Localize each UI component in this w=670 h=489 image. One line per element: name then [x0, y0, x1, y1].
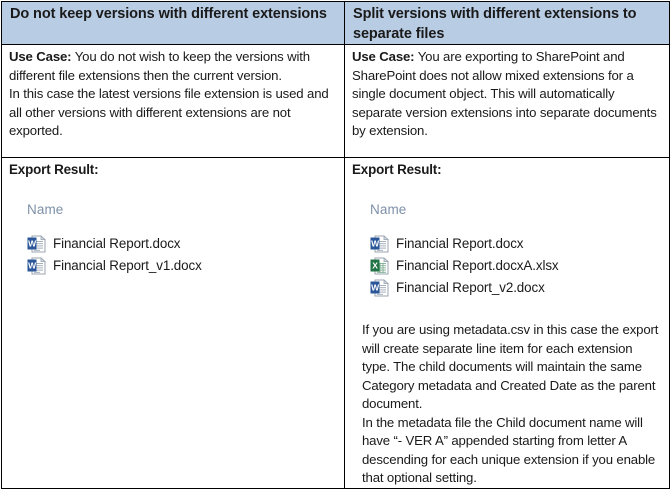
header-cell-no-keep-versions: Do not keep versions with different exte…: [2, 2, 345, 45]
header-title-split-versions: Split versions with different extensions…: [345, 2, 669, 44]
file-list-column-header-name: Name: [370, 201, 662, 220]
excel-spreadsheet-icon: X: [370, 257, 389, 275]
svg-text:X: X: [372, 260, 378, 270]
list-item[interactable]: W Financial Report.docx: [370, 233, 662, 255]
word-document-icon: W: [370, 235, 389, 253]
file-name-label: Financial Report.docxA.xlsx: [396, 257, 559, 276]
use-case-text-split-versions: Use Case: You are exporting to SharePoin…: [345, 45, 669, 141]
svg-text:W: W: [371, 282, 380, 292]
export-result-body-split-versions: Export Result: Name: [345, 158, 669, 488]
svg-text:W: W: [371, 238, 380, 248]
file-list-column-header-name: Name: [27, 201, 337, 220]
use-case-lead-label: Use Case:: [352, 49, 414, 64]
list-item[interactable]: W Financial Report.docx: [27, 233, 337, 255]
use-case-lead-label: Use Case:: [9, 49, 71, 64]
metadata-note-paragraph: In the metadata file the Child document …: [362, 414, 662, 488]
file-name-label: Financial Report_v1.docx: [53, 257, 202, 276]
metadata-note-paragraph: If you are using metadata.csv in this ca…: [362, 321, 662, 414]
list-item[interactable]: W Financial Report_v1.docx: [27, 255, 337, 277]
export-result-cell-split-versions: Export Result: Name: [345, 158, 670, 489]
header-title-no-keep-versions: Do not keep versions with different exte…: [2, 2, 344, 24]
word-document-icon: W: [370, 279, 389, 297]
use-case-cell-no-keep-versions: Use Case: You do not wish to keep the ve…: [2, 45, 345, 158]
metadata-notes: If you are using metadata.csv in this ca…: [362, 321, 662, 488]
file-name-label: Financial Report.docx: [53, 235, 180, 254]
export-result-title: Export Result:: [9, 161, 337, 180]
svg-text:W: W: [28, 238, 37, 248]
word-document-icon: W: [27, 235, 46, 253]
list-item[interactable]: X Financial Report.docxA.xlsx: [370, 255, 662, 277]
versions-comparison-table: Do not keep versions with different exte…: [1, 1, 670, 489]
word-document-icon: W: [27, 257, 46, 275]
export-result-body-no-keep-versions: Export Result: Name: [2, 158, 344, 277]
list-item[interactable]: W Financial Report_v2.docx: [370, 277, 662, 299]
export-result-row: Export Result: Name: [2, 158, 670, 489]
use-case-paragraph: Use Case: You are exporting to SharePoin…: [352, 48, 662, 141]
svg-text:W: W: [28, 260, 37, 270]
use-case-text-no-keep-versions: Use Case: You do not wish to keep the ve…: [2, 45, 344, 141]
export-result-cell-no-keep-versions: Export Result: Name: [2, 158, 345, 489]
file-name-label: Financial Report.docx: [396, 235, 523, 254]
file-list-no-keep-versions: W Financial Report.docx: [27, 233, 337, 277]
file-list-split-versions: W Financial Report.docx: [370, 233, 662, 299]
use-case-paragraph: Use Case: You do not wish to keep the ve…: [9, 48, 337, 85]
use-case-paragraph: In this case the latest versions file ex…: [9, 85, 337, 141]
use-case-row: Use Case: You do not wish to keep the ve…: [2, 45, 670, 158]
file-name-label: Financial Report_v2.docx: [396, 279, 545, 298]
export-result-title: Export Result:: [352, 161, 662, 180]
use-case-cell-split-versions: Use Case: You are exporting to SharePoin…: [345, 45, 670, 158]
header-cell-split-versions: Split versions with different extensions…: [345, 2, 670, 45]
table-header-row: Do not keep versions with different exte…: [2, 2, 670, 45]
